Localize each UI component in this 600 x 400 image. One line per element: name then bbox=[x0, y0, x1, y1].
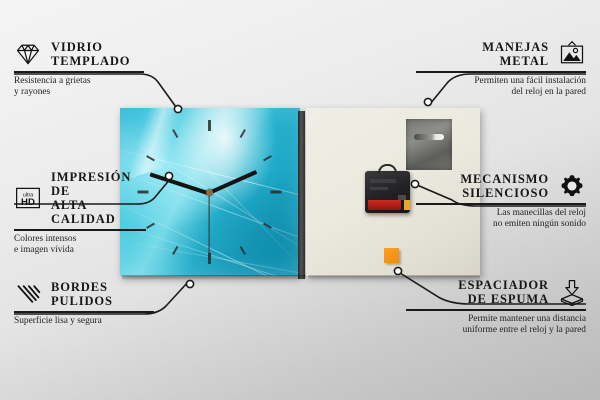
callout-rule bbox=[416, 71, 586, 73]
callout-rule bbox=[14, 229, 146, 231]
metal-hanger-plate bbox=[406, 119, 452, 170]
callout-subtitle: Permite mantener una distancia uniforme … bbox=[406, 314, 586, 337]
clock-tick bbox=[240, 129, 246, 138]
callout-subtitle: Superficie lisa y segura bbox=[14, 316, 154, 327]
callout-rule bbox=[14, 311, 154, 313]
clock-center-pin bbox=[206, 189, 213, 196]
clock-second-hand bbox=[208, 193, 209, 259]
clock-tick bbox=[146, 223, 155, 229]
callout-mecanismo-silencioso[interactable]: MECANISMO SILENCIOSO Las manecillas del … bbox=[416, 172, 586, 230]
quartz-movement bbox=[365, 171, 410, 213]
diamond-icon bbox=[14, 40, 42, 68]
clock-front-face bbox=[120, 108, 300, 276]
polished-edges-icon bbox=[14, 280, 42, 308]
callout-subtitle: Colores intensos e imagen vívida bbox=[14, 234, 146, 257]
clock-tick bbox=[240, 246, 246, 255]
connector-dot bbox=[424, 98, 431, 105]
picture-frame-hanger-icon bbox=[558, 40, 586, 68]
callout-bordes-pulidos[interactable]: BORDES PULIDOS Superficie lisa y segura bbox=[14, 280, 154, 327]
ultra-hd-icon: ultra HD bbox=[14, 184, 42, 212]
callout-subtitle: Resistencia a grietas y rayones bbox=[14, 76, 144, 99]
callout-title: MECANISMO SILENCIOSO bbox=[460, 172, 549, 200]
clock-tick bbox=[208, 120, 211, 131]
clock-tick bbox=[263, 155, 272, 161]
hanger-keyhole-slot bbox=[414, 134, 444, 140]
callout-rule bbox=[406, 309, 586, 311]
svg-text:HD: HD bbox=[21, 197, 35, 208]
callout-title: IMPRESIÓN DE ALTA CALIDAD bbox=[51, 170, 146, 226]
movement-detail bbox=[370, 179, 396, 183]
callout-title: ESPACIADOR DE ESPUMA bbox=[458, 278, 549, 306]
callout-subtitle: Permiten una fácil instalación del reloj… bbox=[416, 76, 586, 99]
movement-detail bbox=[370, 187, 388, 190]
callout-rule bbox=[416, 203, 586, 205]
callout-impresion-alta-calidad[interactable]: ultra HD IMPRESIÓN DE ALTA CALIDAD Color… bbox=[14, 170, 146, 256]
connector-dot bbox=[186, 280, 193, 287]
foam-spacer-pad bbox=[384, 248, 399, 263]
callout-vidrio-templado[interactable]: VIDRIO TEMPLADO Resistencia a grietas y … bbox=[14, 40, 144, 98]
callout-subtitle: Las manecillas del reloj no emiten ningú… bbox=[416, 208, 586, 231]
gear-icon bbox=[558, 172, 586, 200]
callout-title: MANEJAS METAL bbox=[482, 40, 549, 68]
battery-cell bbox=[368, 200, 401, 210]
battery-terminal bbox=[404, 200, 410, 210]
foam-spacer-arrow-icon bbox=[558, 278, 586, 306]
callout-title: VIDRIO TEMPLADO bbox=[51, 40, 130, 68]
callout-title: BORDES PULIDOS bbox=[51, 280, 113, 308]
infographic-canvas: VIDRIO TEMPLADO Resistencia a grietas y … bbox=[0, 0, 600, 400]
callout-rule bbox=[14, 71, 144, 73]
callout-espaciador-espuma[interactable]: ESPACIADOR DE ESPUMA Permite mantener un… bbox=[406, 278, 586, 336]
movement-hanging-loop bbox=[378, 164, 397, 173]
clock-tick bbox=[271, 191, 282, 194]
clock-side-edge bbox=[298, 111, 305, 279]
callout-manejas-metal[interactable]: MANEJAS METAL Permiten una fácil instala… bbox=[416, 40, 586, 98]
